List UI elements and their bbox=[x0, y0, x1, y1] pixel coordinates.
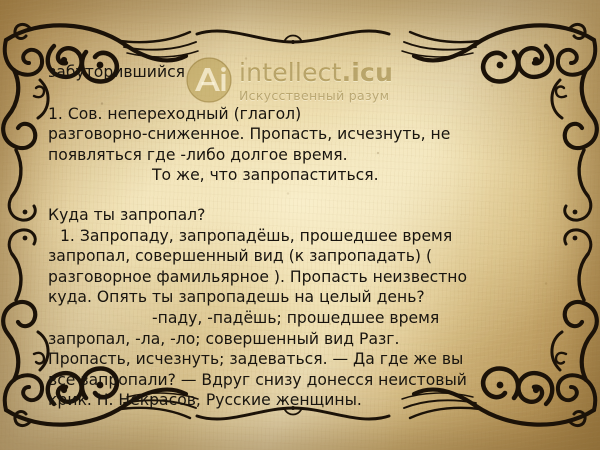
entry-line-12: Пропасть, исчезнуть; задеваться. — Да гд… bbox=[48, 349, 564, 370]
entry-line-4-wrap: То же, что запропаститься. bbox=[48, 165, 564, 186]
entry-line-5: Куда ты запропал? bbox=[48, 205, 564, 226]
entry-line-10: -паду, -падёшь; прошедшее время bbox=[152, 309, 439, 327]
entry-headword: забуторившийся bbox=[48, 62, 564, 83]
entry-line-6-wrap: 1. Запропаду, запропадёшь, прошедшее вре… bbox=[48, 226, 564, 247]
entry-line-7: запропал, совершенный вид (к запропадать… bbox=[48, 246, 564, 267]
entry-line-4: То же, что запропаститься. bbox=[152, 166, 379, 184]
dictionary-entry: забуторившийся 1. Сов. непереходный (гла… bbox=[48, 62, 564, 411]
entry-line-6: 1. Запропаду, запропадёшь, прошедшее вре… bbox=[60, 227, 452, 245]
entry-line-10-wrap: -паду, -падёшь; прошедшее время bbox=[48, 308, 564, 329]
entry-line-1: 1. Сов. непереходный (глагол) bbox=[48, 104, 564, 125]
entry-line-3: появляться где -либо долгое время. bbox=[48, 145, 564, 166]
entry-line-2: разговорно-сниженное. Пропасть, исчезнут… bbox=[48, 124, 564, 145]
dictionary-slide: intellect.icu Искусственный разум забуто… bbox=[0, 0, 600, 450]
entry-line-9: куда. Опять ты запропадешь на целый день… bbox=[48, 287, 564, 308]
entry-line-11: запропал, -ла, -ло; совершенный вид Разг… bbox=[48, 329, 564, 350]
entry-line-13: все запропали? — Вдруг снизу донесся неи… bbox=[48, 370, 564, 391]
entry-line-8: разговорное фамильярное ). Пропасть неиз… bbox=[48, 267, 564, 288]
entry-line-14: крик. Н. Некрасов, Русские женщины. bbox=[48, 390, 564, 411]
